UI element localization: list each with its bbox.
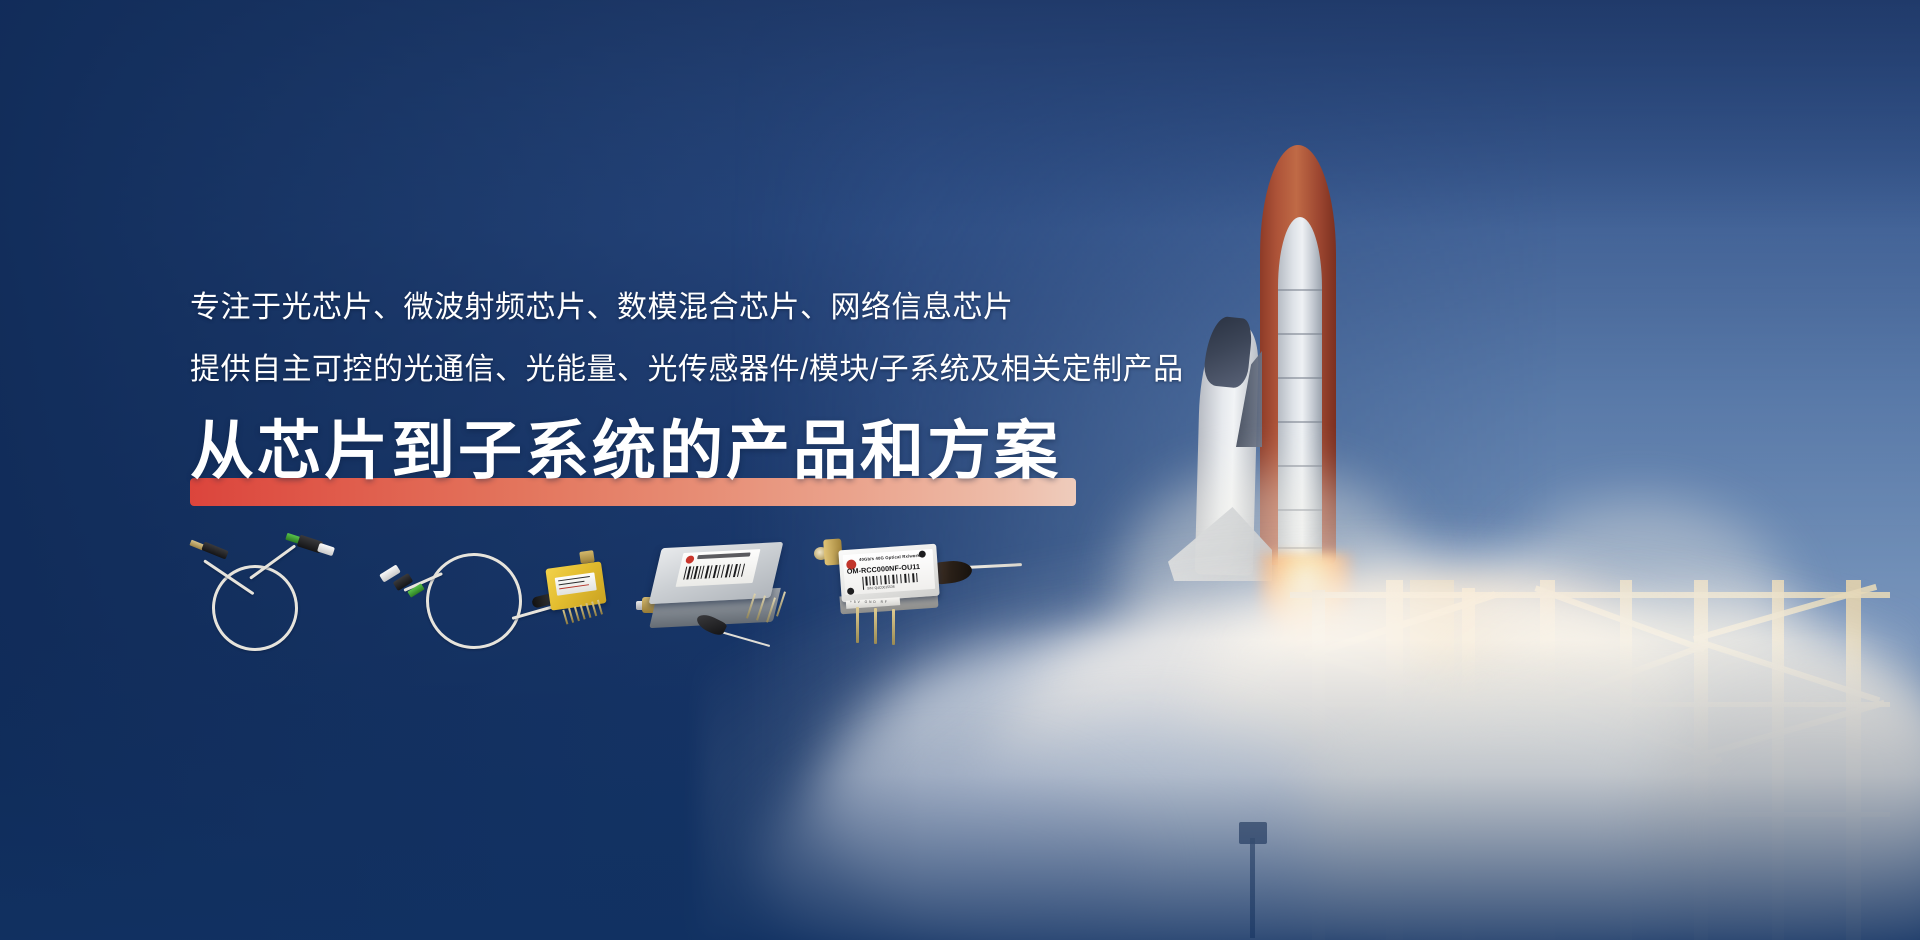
receiver-label-top: 40Gb/s 40G Optical Rx/work bbox=[859, 553, 920, 562]
banner-content: 专注于光芯片、微波射频芯片、数模混合芯片、网络信息芯片 提供自主可控的光通信、光… bbox=[0, 0, 1920, 940]
product-fiber-patch-cord bbox=[190, 537, 350, 662]
product-butterfly-laser-module bbox=[380, 543, 620, 663]
receiver-pin-legend: +5V GND RF bbox=[850, 600, 889, 604]
receiver-label-serial: S/N: Q4C0015536 bbox=[867, 585, 895, 591]
page-title: 从芯片到子系统的产品和方案 bbox=[190, 418, 1061, 485]
product-optical-receiver-module: 40Gb/s 40G Optical Rx/work OM-RCC000NF-O… bbox=[820, 533, 1020, 665]
headline-block: 从芯片到子系统的产品和方案 bbox=[190, 418, 1090, 510]
tagline-line-1: 专注于光芯片、微波射频芯片、数模混合芯片、网络信息芯片 bbox=[190, 293, 1014, 323]
hero-banner: 专注于光芯片、微波射频芯片、数模混合芯片、网络信息芯片 提供自主可控的光通信、光… bbox=[0, 0, 1920, 940]
product-image-strip: 40Gb/s 40G Optical Rx/work OM-RCC000NF-O… bbox=[190, 525, 1020, 675]
tagline-line-2: 提供自主可控的光通信、光能量、光传感器件/模块/子系统及相关定制产品 bbox=[190, 355, 1184, 385]
product-rf-metal-module bbox=[642, 535, 802, 665]
